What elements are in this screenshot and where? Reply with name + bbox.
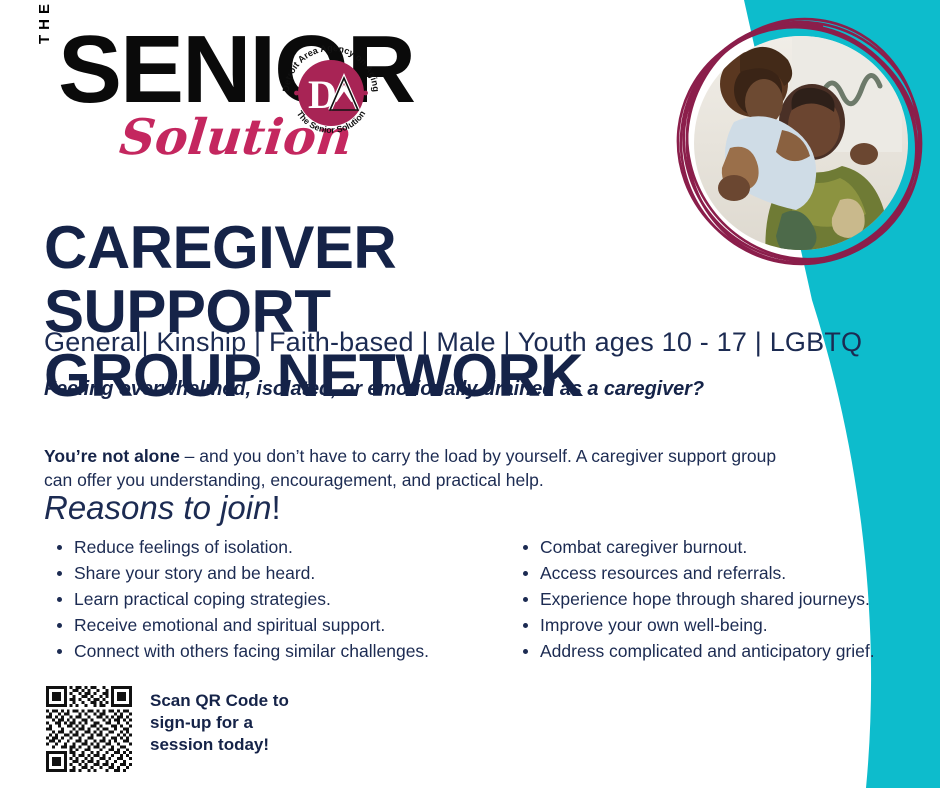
list-item: Receive emotional and spiritual support.	[74, 612, 494, 638]
qr-code-icon[interactable]	[46, 686, 132, 772]
intro-lead: You’re not alone	[44, 446, 180, 466]
intro-paragraph: You’re not alone – and you don’t have to…	[44, 444, 784, 492]
logo-the-text: THE	[36, 0, 53, 44]
list-item: Reduce feelings of isolation.	[74, 534, 494, 560]
list-item: Learn practical coping strategies.	[74, 586, 494, 612]
qr-caption: Scan QR Code to sign-up for a session to…	[150, 686, 289, 756]
qr-signup-block: Scan QR Code to sign-up for a session to…	[46, 686, 289, 772]
list-item: Access resources and referrals.	[540, 560, 920, 586]
group-types-list: General| Kinship | Faith-based | Male | …	[44, 325, 862, 359]
list-item: Improve your own well-being.	[540, 612, 920, 638]
brand-logo: THE SENIOR Solution Detroit Area Agency …	[30, 14, 430, 169]
list-item: Address complicated and anticipatory gri…	[540, 638, 920, 664]
caregiver-photo	[672, 14, 930, 272]
qr-caption-line-2: sign-up for a	[150, 712, 289, 734]
reasons-bullet-columns: Reduce feelings of isolation. Share your…	[44, 534, 854, 664]
reasons-heading-italic: Reasons to join	[44, 489, 271, 526]
qr-caption-line-3: session today!	[150, 734, 289, 756]
reasons-heading-exclamation: !	[271, 489, 280, 526]
reasons-right-list: Combat caregiver burnout. Access resourc…	[510, 534, 920, 664]
hook-question: Feeling overwhelmed, isolated, or emotio…	[44, 376, 704, 402]
daaa-seal-icon: Detroit Area Agency on Aging The Senior …	[278, 40, 384, 146]
list-item: Connect with others facing similar chall…	[74, 638, 494, 664]
reasons-heading: Reasons to join!	[44, 488, 281, 528]
reasons-left-column: Reduce feelings of isolation. Share your…	[44, 534, 494, 664]
list-item: Experience hope through shared journeys.	[540, 586, 920, 612]
list-item: Combat caregiver burnout.	[540, 534, 920, 560]
qr-caption-line-1: Scan QR Code to	[150, 690, 289, 712]
reasons-right-column: Combat caregiver burnout. Access resourc…	[510, 534, 920, 664]
flyer-canvas: THE SENIOR Solution Detroit Area Agency …	[0, 0, 940, 788]
list-item: Share your story and be heard.	[74, 560, 494, 586]
reasons-left-list: Reduce feelings of isolation. Share your…	[44, 534, 494, 664]
